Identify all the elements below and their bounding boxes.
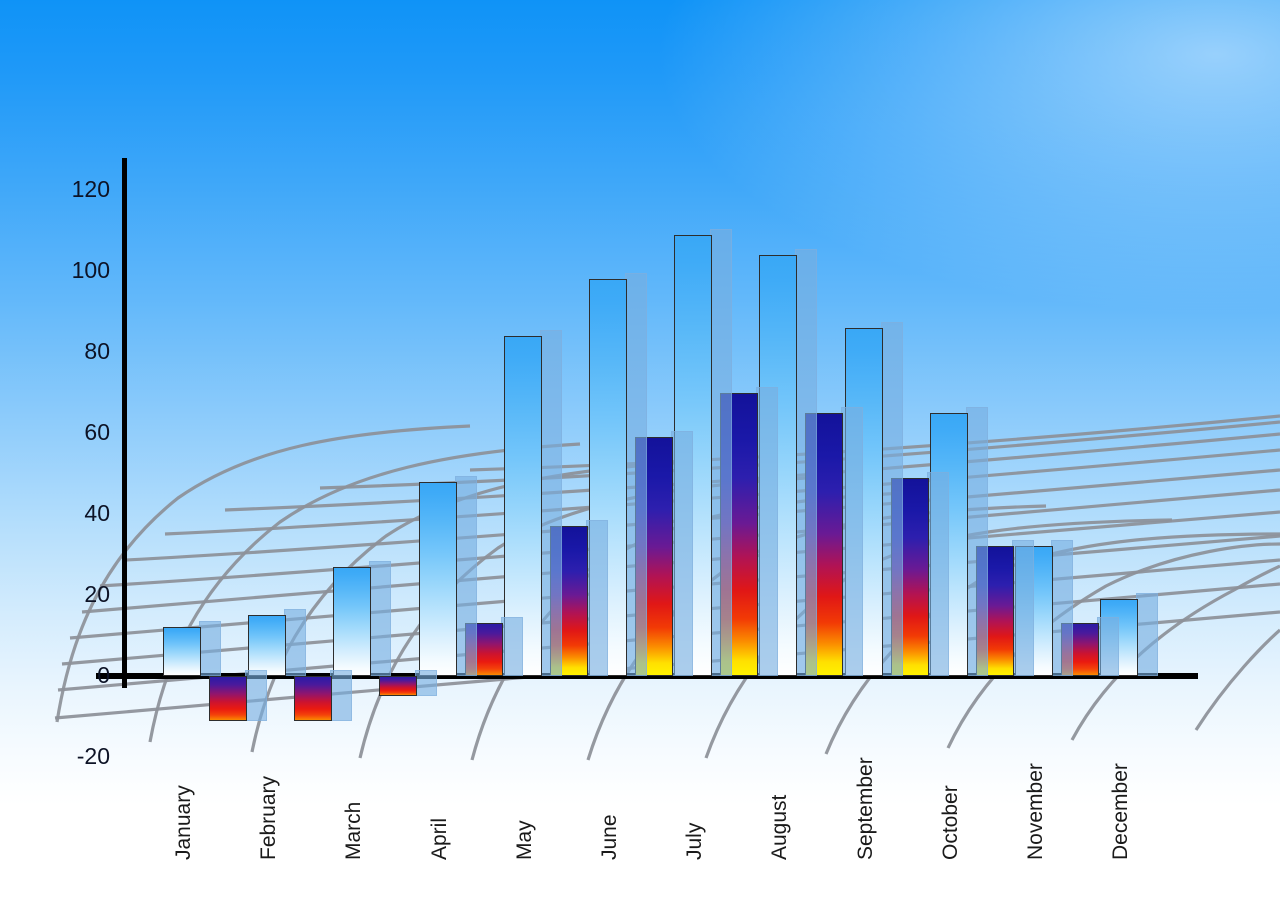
y-axis-line [122, 158, 127, 688]
plot-area [0, 0, 1280, 905]
x-label-june: June [599, 814, 620, 860]
x-label-october: October [940, 785, 961, 860]
x-label-april: April [429, 818, 450, 860]
bar-march-series1[interactable] [333, 567, 371, 676]
bar-face [379, 676, 417, 696]
bar-face [248, 615, 286, 676]
bar-january-series1[interactable] [163, 627, 201, 676]
x-label-february: February [258, 776, 279, 860]
bar-depth-shadow [966, 407, 988, 676]
bar-face [419, 482, 457, 676]
bar-april-series1[interactable] [419, 482, 457, 676]
x-label-january: January [173, 785, 194, 860]
bar-depth-shadow [1012, 540, 1034, 676]
x-label-march: March [343, 802, 364, 860]
bar-depth-shadow [455, 476, 477, 676]
x-label-july: July [684, 823, 705, 860]
y-tick-120: 120 [0, 178, 110, 201]
bar-depth-shadow [756, 387, 778, 677]
bar-january-series2[interactable] [209, 676, 247, 721]
bar-depth-shadow [199, 621, 221, 676]
bar-depth-shadow [927, 472, 949, 676]
bar-depth-shadow [841, 407, 863, 676]
bar-face [333, 567, 371, 676]
bar-depth-shadow [501, 617, 523, 676]
chart-canvas: 120100806040200-20 JanuaryFebruaryMarchA… [0, 0, 1280, 905]
y-tick-0: 0 [0, 664, 110, 687]
bar-depth-shadow [1097, 617, 1119, 676]
bar-depth-shadow [671, 431, 693, 676]
bar-depth-shadow [586, 520, 608, 676]
bar-march-series2[interactable] [379, 676, 417, 696]
bar-depth-shadow [330, 670, 352, 721]
bar-depth-shadow [415, 670, 437, 696]
x-label-may: May [514, 820, 535, 860]
y-tick-60: 60 [0, 421, 110, 444]
x-label-august: August [769, 795, 790, 860]
bar-face [209, 676, 247, 721]
y-tick-neg20: -20 [0, 745, 110, 768]
bar-face [163, 627, 201, 676]
bar-february-series2[interactable] [294, 676, 332, 721]
bar-depth-shadow [284, 609, 306, 676]
bar-depth-shadow [881, 322, 903, 676]
y-tick-100: 100 [0, 259, 110, 282]
y-tick-20: 20 [0, 583, 110, 606]
bar-february-series1[interactable] [248, 615, 286, 676]
y-tick-40: 40 [0, 502, 110, 525]
bar-depth-shadow [710, 229, 732, 676]
bar-face [294, 676, 332, 721]
bar-depth-shadow [540, 330, 562, 676]
x-label-september: September [855, 757, 876, 860]
bar-depth-shadow [625, 273, 647, 676]
y-tick-80: 80 [0, 340, 110, 363]
x-label-december: December [1110, 763, 1131, 860]
bar-depth-shadow [369, 561, 391, 676]
x-label-november: November [1025, 763, 1046, 860]
bar-depth-shadow [245, 670, 267, 721]
bar-depth-shadow [795, 249, 817, 676]
bar-depth-shadow [1136, 593, 1158, 676]
bar-depth-shadow [1051, 540, 1073, 676]
